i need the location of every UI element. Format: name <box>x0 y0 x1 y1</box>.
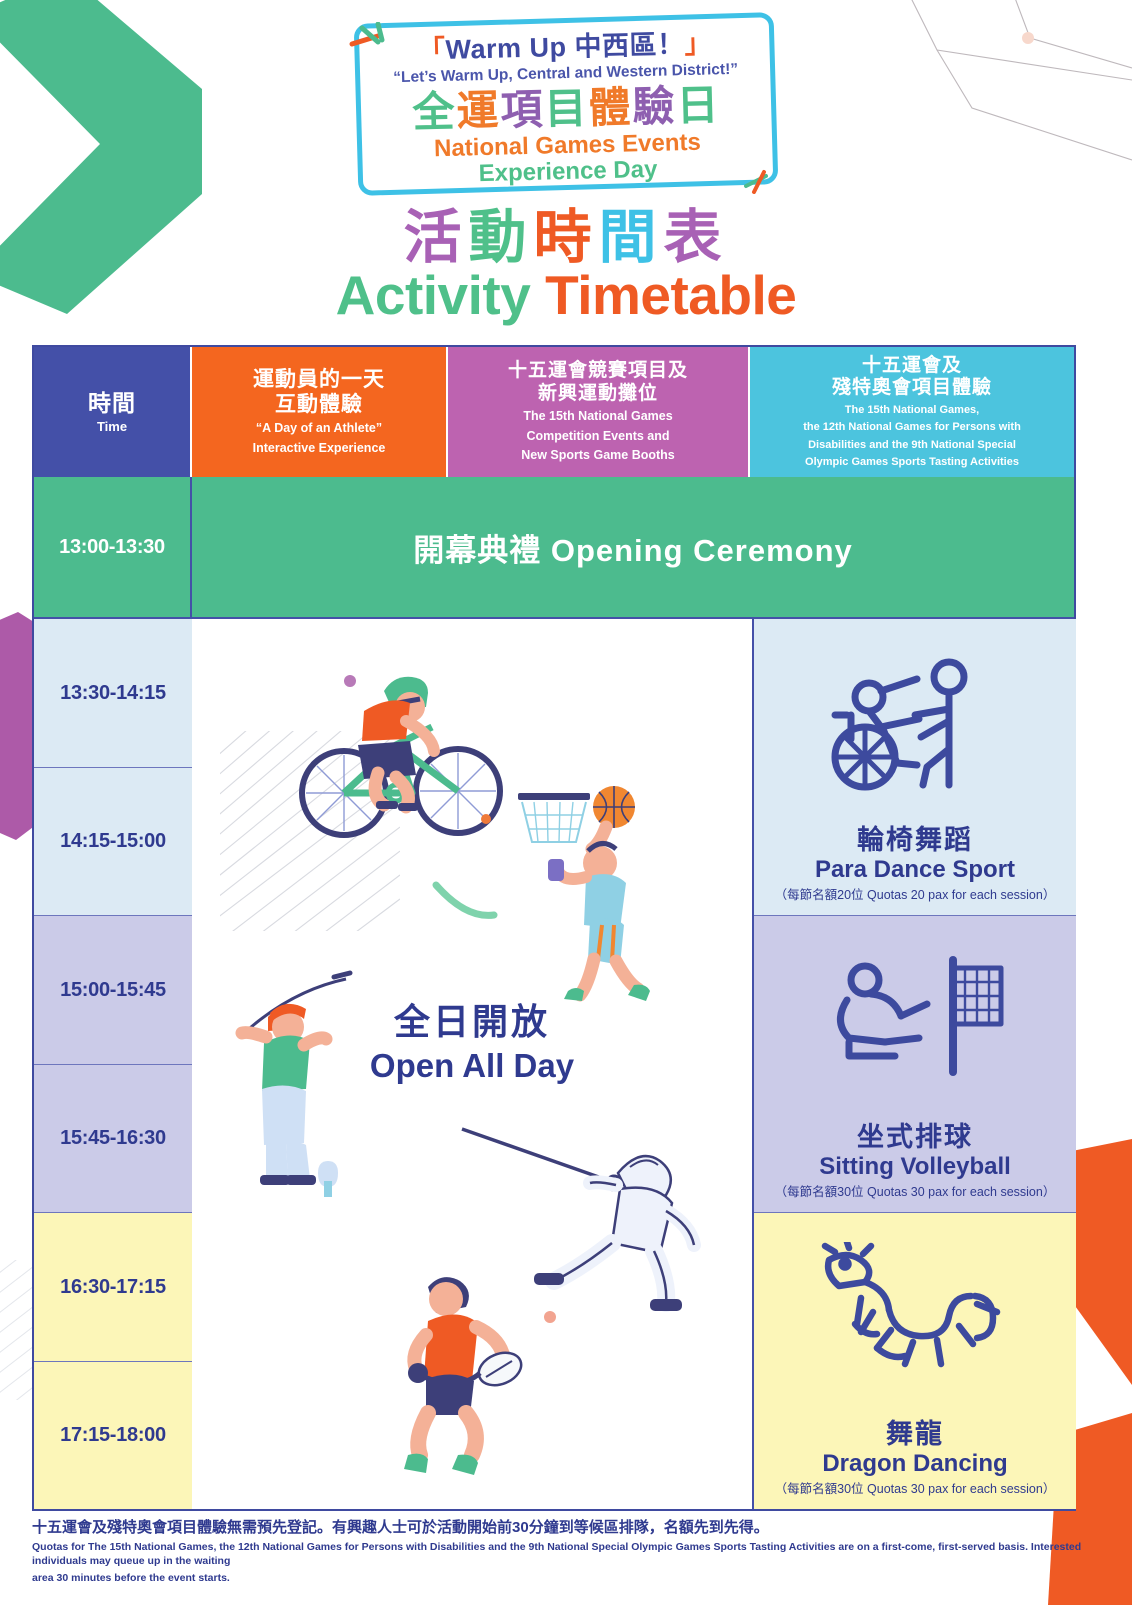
time-cell-6: 16:30-17:15 <box>34 1213 192 1362</box>
title-zh-char-1: 活 <box>403 205 468 270</box>
open-all-day-en: Open All Day <box>192 1047 752 1085</box>
column-header-para-en-2: the 12th National Games for Persons with <box>803 421 1021 434</box>
activity-zh-para-dance: 輪椅舞蹈 <box>857 826 973 856</box>
activity-en-dragon-dancing: Dragon Dancing <box>822 1450 1007 1478</box>
green-arc-decoration <box>430 877 500 927</box>
footer-note-en-2: area 30 minutes before the event starts. <box>32 1571 1112 1585</box>
logo-zh-char-6: 驗 <box>632 82 677 130</box>
column-header-para-en-1: The 15th National Games, <box>845 404 979 417</box>
title-en-activity: Activity <box>336 264 545 326</box>
column-header-athlete: 運動員的一天 互動體驗 “A Day of an Athlete” Intera… <box>192 347 448 477</box>
title-chinese: 活動時間表 <box>0 206 1132 270</box>
title-zh-char-5: 表 <box>664 205 729 270</box>
table-body: 13:00-13:30 開幕典禮 Opening Ceremony 13:30-… <box>34 477 1074 1509</box>
rugby-runner-illustration <box>382 1269 582 1489</box>
activity-note-sitting-volleyball: （每節名額30位 Quotas 30 pax for each session） <box>775 1181 1056 1200</box>
logo-zh-char-7: 日 <box>676 81 721 129</box>
time-cell-1: 13:00-13:30 <box>34 477 192 619</box>
time-cell-5: 15:45-16:30 <box>34 1065 192 1214</box>
column-header-para-en-4: Olympic Games Sports Tasting Activities <box>805 456 1019 469</box>
spark-icon-right <box>740 154 786 194</box>
time-cell-4: 15:00-15:45 <box>34 916 192 1065</box>
column-header-para-en-3: Disabilities and the 9th National Specia… <box>808 439 1016 452</box>
logo-zh-char-5: 體 <box>588 83 633 131</box>
para-activities-column: 輪椅舞蹈 Para Dance Sport （每節名額20位 Quotas 20… <box>754 619 1076 1509</box>
activity-block-para-dance: 輪椅舞蹈 Para Dance Sport （每節名額20位 Quotas 20… <box>754 619 1076 916</box>
basketball-player-illustration <box>502 779 682 1009</box>
title-english: Activity Timetable <box>0 268 1132 323</box>
column-header-competition-en-3: New Sports Game Booths <box>521 448 675 464</box>
footer-note: 十五運會及殘特奧會項目體驗無需預先登記。有興趣人士可於活動開始前30分鐘到等候區… <box>32 1518 1112 1585</box>
table-main-body: 13:30-14:15 14:15-15:00 15:00-15:45 15:4… <box>34 619 1074 1509</box>
open-all-day-cell: 全日開放 Open All Day <box>192 619 754 1509</box>
activity-note-dragon-dancing: （每節名額30位 Quotas 30 pax for each session） <box>775 1478 1056 1497</box>
time-cell-2: 13:30-14:15 <box>34 619 192 768</box>
time-cell-3: 14:15-15:00 <box>34 768 192 917</box>
column-header-time-zh: 時間 <box>88 390 136 417</box>
activity-note-para-dance: （每節名額20位 Quotas 20 pax for each session） <box>775 884 1056 903</box>
title-zh-char-2: 動 <box>468 205 533 270</box>
activity-zh-sitting-volleyball: 坐式排球 <box>857 1123 973 1153</box>
column-header-athlete-zh-1: 運動員的一天 <box>253 368 385 393</box>
dragon-dance-icon <box>815 1213 1015 1420</box>
column-header-athlete-en-2: Interactive Experience <box>253 441 386 457</box>
page-title: 活動時間表 Activity Timetable <box>0 196 1132 323</box>
cyclist-illustration <box>292 665 512 845</box>
activity-block-dragon-dancing: 舞龍 Dragon Dancing （每節名額30位 Quotas 30 pax… <box>754 1213 1076 1509</box>
column-header-para: 十五運會及 殘特奧會項目體驗 The 15th National Games, … <box>750 347 1074 477</box>
table-header-row: 時間 Time 運動員的一天 互動體驗 “A Day of an Athlete… <box>34 347 1074 477</box>
logo-zh-char-3: 項 <box>500 85 545 133</box>
wheelchair-dance-icon <box>825 619 1005 826</box>
open-all-day-label: 全日開放 Open All Day <box>192 993 752 1085</box>
logo-bracket-open: 「 <box>417 35 445 66</box>
title-zh-char-3: 時 <box>533 205 598 270</box>
logo-zh-char-1: 全 <box>412 87 457 135</box>
column-header-para-zh-1: 十五運會及 <box>862 355 962 377</box>
column-header-para-zh-2: 殘特奧會項目體驗 <box>832 377 992 399</box>
activity-zh-dragon-dancing: 舞龍 <box>886 1420 944 1450</box>
logo-en-experience: Experience Day <box>478 155 657 186</box>
open-all-day-zh: 全日開放 <box>192 993 752 1045</box>
activity-timetable: 時間 Time 運動員的一天 互動體驗 “A Day of an Athlete… <box>32 345 1076 1511</box>
title-zh-char-4: 間 <box>599 205 664 270</box>
time-cell-7: 17:15-18:00 <box>34 1362 192 1510</box>
activity-block-sitting-volleyball: 坐式排球 Sitting Volleyball （每節名額30位 Quotas … <box>754 916 1076 1213</box>
column-header-competition: 十五運會競賽項目及 新興運動攤位 The 15th National Games… <box>448 347 750 477</box>
column-header-competition-zh-1: 十五運會競賽項目及 <box>508 360 688 382</box>
logo-zh-char-4: 目 <box>544 84 589 132</box>
activity-en-para-dance: Para Dance Sport <box>815 856 1015 884</box>
column-header-competition-en-1: The 15th National Games <box>523 409 672 425</box>
table-row: 13:00-13:30 開幕典禮 Opening Ceremony <box>34 477 1074 619</box>
column-header-time-en: Time <box>97 419 127 435</box>
logo-line-3: 全運項目體驗日 <box>393 81 739 135</box>
activity-en-sitting-volleyball: Sitting Volleyball <box>819 1153 1011 1181</box>
logo-bracket-close: 」 <box>684 28 712 59</box>
time-column: 13:30-14:15 14:15-15:00 15:00-15:45 15:4… <box>34 619 192 1509</box>
column-header-competition-en-2: Competition Events and <box>526 429 669 445</box>
column-header-athlete-en-1: “A Day of an Athlete” <box>256 421 382 437</box>
logo-zh-char-2: 運 <box>456 86 501 134</box>
opening-ceremony-cell: 開幕典禮 Opening Ceremony <box>192 477 1074 619</box>
logo-warmup-text: Warm Up 中西區！ <box>445 29 685 65</box>
title-en-timetable: Timetable <box>545 264 796 326</box>
sitting-volleyball-icon <box>825 916 1005 1123</box>
column-header-athlete-zh-2: 互動體驗 <box>275 393 363 418</box>
logo-line-1: 「Warm Up 中西區！」 <box>392 20 738 67</box>
footer-note-zh: 十五運會及殘特奧會項目體驗無需預先登記。有興趣人士可於活動開始前30分鐘到等候區… <box>32 1518 1112 1538</box>
column-header-competition-zh-2: 新興運動攤位 <box>538 383 658 405</box>
event-logo: 「Warm Up 中西區！」 “Let’s Warm Up, Central a… <box>0 18 1132 190</box>
footer-note-en-1: Quotas for The 15th National Games, the … <box>32 1540 1112 1568</box>
column-header-time: 時間 Time <box>34 347 192 477</box>
